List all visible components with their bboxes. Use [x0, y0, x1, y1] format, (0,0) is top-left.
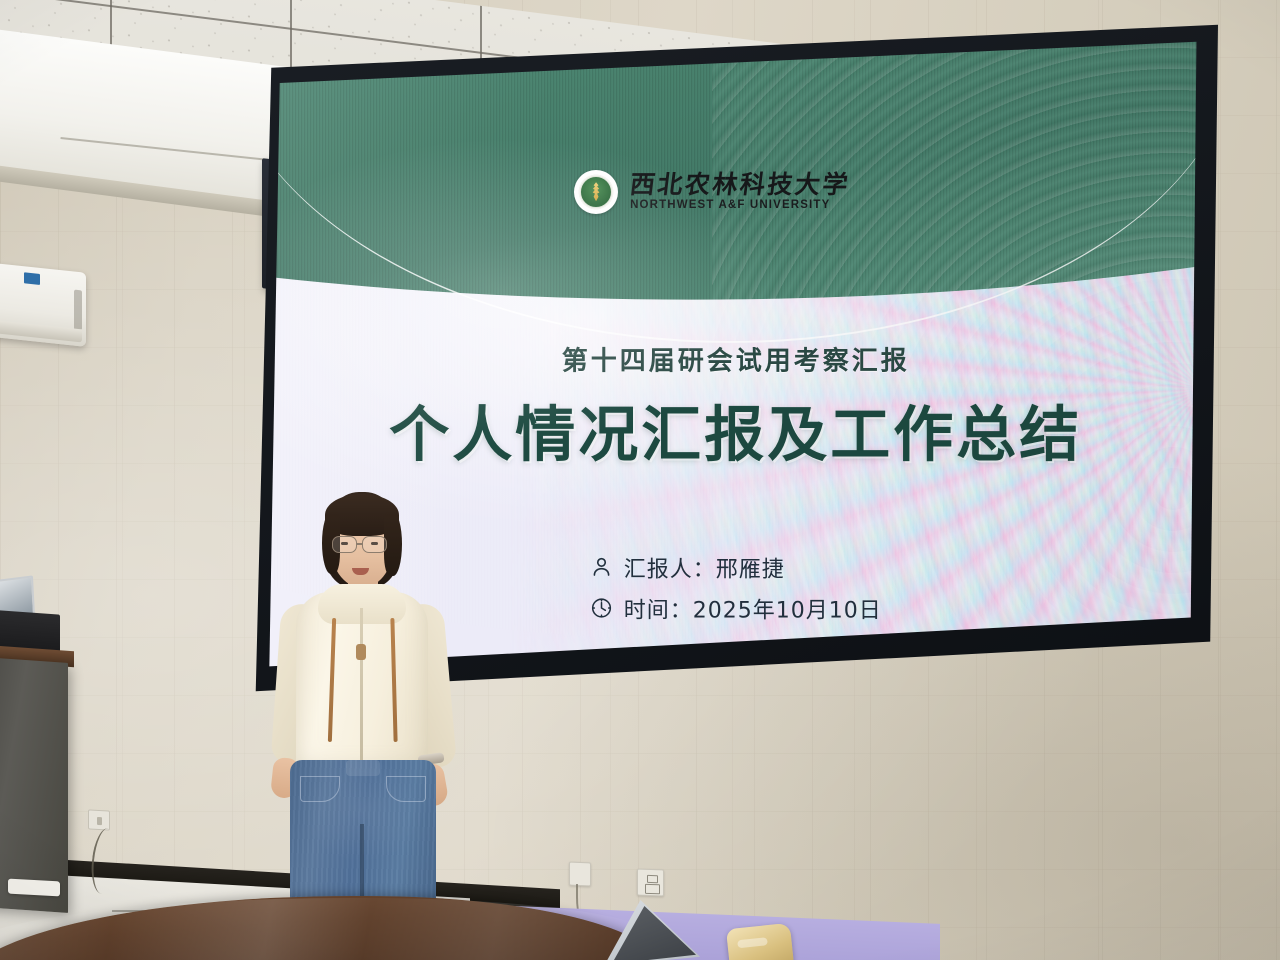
hoodie-zipper-pull — [356, 644, 366, 660]
glasses-bridge — [357, 543, 362, 545]
university-name-en: NORTHWEST A&F UNIVERSITY — [630, 200, 850, 212]
wall-plate-data — [569, 862, 591, 887]
ac-vent — [0, 320, 82, 342]
glasses-left-lens — [332, 536, 357, 553]
university-name-block: 西北农林科技大学 NORTHWEST A&F UNIVERSITY — [630, 172, 850, 212]
slide-subtitle: 第十四届研会试用考察汇报 — [562, 340, 910, 377]
jeans-waist — [346, 760, 380, 776]
presenter-text: 汇报人：邢雁捷 — [624, 551, 785, 583]
power-strip — [8, 879, 60, 897]
presentation-room-photo: 西北农林科技大学 NORTHWEST A&F UNIVERSITY 第十四届研会… — [0, 0, 1280, 960]
university-logo-lockup: 西北农林科技大学 NORTHWEST A&F UNIVERSITY — [574, 170, 850, 214]
ac-brand-badge — [24, 272, 40, 285]
wall-outlet-center — [637, 869, 664, 897]
hoodie-zipper — [360, 608, 363, 784]
slide-meta-block: 汇报人：邢雁捷 时间：2025年10月10日 — [590, 551, 882, 624]
glasses-right-lens — [362, 536, 387, 553]
person-icon — [590, 556, 613, 579]
air-conditioner-unit — [0, 263, 86, 347]
university-name-cn: 西北农林科技大学 — [629, 172, 852, 197]
date-row: 时间：2025年10月10日 — [590, 592, 882, 624]
av-cabinet — [0, 657, 68, 913]
jeans-pocket-right — [386, 776, 426, 802]
presenter — [252, 492, 482, 940]
clock-icon — [590, 597, 613, 620]
university-crest-icon — [574, 170, 618, 214]
wheat-sheaf-icon — [591, 182, 602, 201]
slide-title: 个人情况汇报及工作总结 — [389, 387, 1082, 474]
date-text: 时间：2025年10月10日 — [624, 592, 882, 624]
ac-side-panel — [74, 290, 82, 331]
gold-device — [726, 923, 794, 960]
presenter-row: 汇报人：邢雁捷 — [590, 551, 882, 583]
